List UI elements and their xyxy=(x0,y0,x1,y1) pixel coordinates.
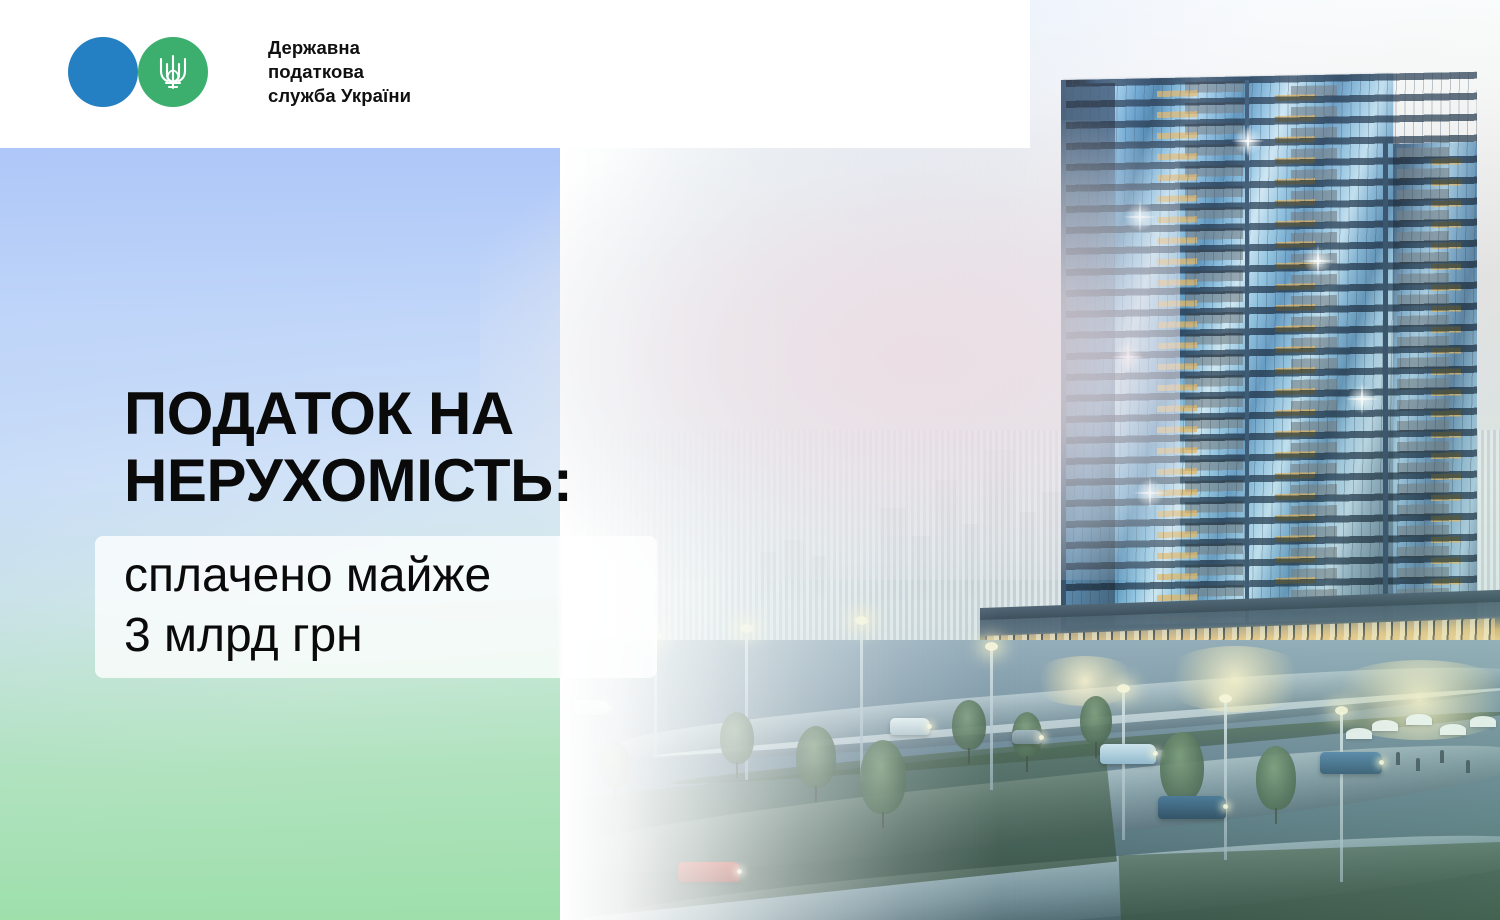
street-tree xyxy=(1160,732,1204,802)
ukraine-trident-icon xyxy=(156,51,190,93)
blue-circle-icon xyxy=(68,37,138,107)
pedestrian xyxy=(1440,750,1444,763)
sky-haze xyxy=(480,120,1180,580)
car-white xyxy=(890,718,930,735)
org-name: Державнаподатковаслужба України xyxy=(268,36,411,108)
street-tree xyxy=(1080,696,1112,744)
subtitle-text: сплачено майже 3 млрд грн xyxy=(124,546,664,667)
car-dark-blue xyxy=(1320,752,1382,774)
promo-banner: Державнаподатковаслужба України ПОДАТОК … xyxy=(0,0,1500,920)
cafe-umbrella xyxy=(1470,716,1496,727)
car-grey xyxy=(1012,730,1042,744)
street-lamp xyxy=(1340,712,1343,882)
street-tree xyxy=(796,726,836,788)
pedestrian xyxy=(1396,752,1400,765)
header-bar: Державнаподатковаслужба України xyxy=(0,0,1030,148)
car-light-blue xyxy=(1100,744,1156,764)
org-name-line-2: податкова xyxy=(268,61,364,82)
org-name-line-1: Державна xyxy=(268,37,360,58)
cafe-umbrella xyxy=(1440,724,1466,735)
street-tree xyxy=(1256,746,1296,810)
cafe-umbrella xyxy=(1406,714,1432,725)
storefront-glow xyxy=(1160,646,1310,712)
street-lamp xyxy=(1122,690,1125,840)
logo-mark xyxy=(68,37,196,107)
logo-lockup[interactable]: Державнаподатковаслужба України xyxy=(68,36,411,108)
green-circle-icon xyxy=(138,37,208,107)
cafe-umbrella xyxy=(1372,720,1398,731)
org-name-line-3: служба України xyxy=(268,85,411,106)
headline-title: ПОДАТОК НА НЕРУХОМІСТЬ: xyxy=(124,380,572,514)
car-silver xyxy=(572,700,608,715)
car-navy xyxy=(1158,796,1226,819)
street-tree xyxy=(952,700,986,750)
tower-mid-edge xyxy=(1245,80,1249,680)
car-red-convertible xyxy=(678,862,740,882)
street-tree xyxy=(860,740,906,814)
street-tree xyxy=(600,742,630,788)
grass-verge-right xyxy=(1119,841,1500,920)
pedestrian xyxy=(1466,760,1470,773)
street-tree xyxy=(720,712,754,764)
cafe-umbrella xyxy=(1346,728,1372,739)
pedestrian xyxy=(1416,758,1420,771)
street-lamp xyxy=(1224,700,1227,860)
street-lamp xyxy=(990,648,993,790)
